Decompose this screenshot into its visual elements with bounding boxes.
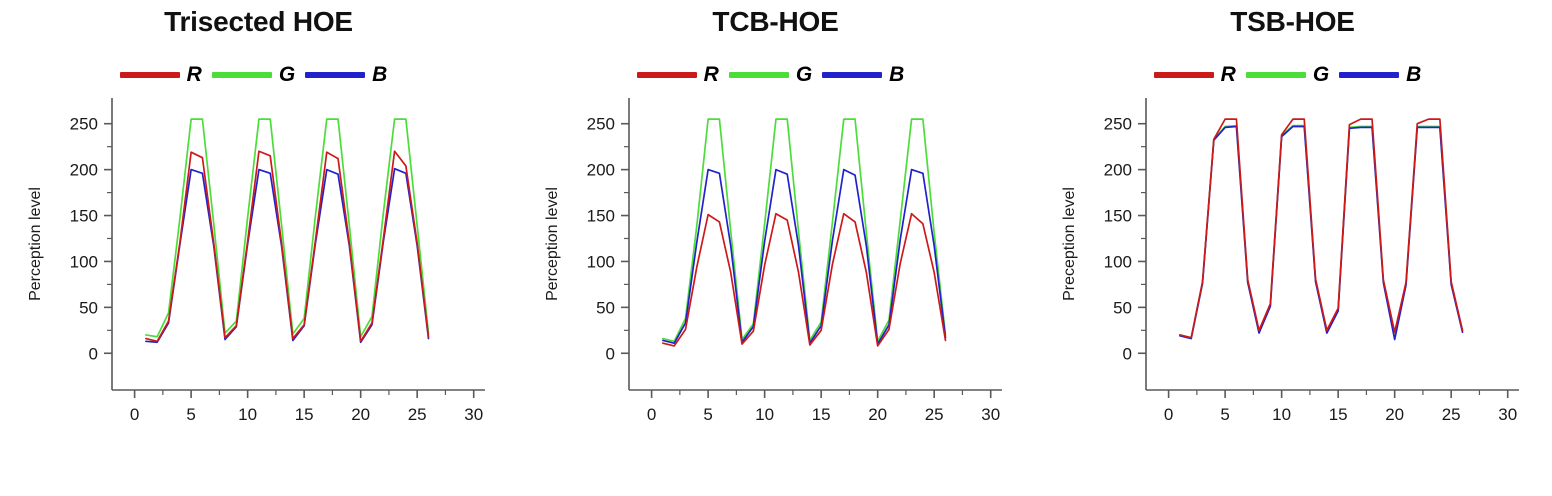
legend-swatch-r-icon (120, 72, 180, 78)
x-tick-label: 25 (1442, 405, 1461, 424)
legend-label-G: G (796, 64, 812, 85)
x-tick-label: 10 (238, 405, 257, 424)
figure-root: Trisected HOERGB050100150200250051015202… (0, 0, 1552, 496)
plot-area: 050100150200250051015202530pixel numberP… (1034, 90, 1551, 440)
panel-title: Trisected HOE (0, 6, 517, 38)
y-tick-label: 250 (587, 115, 615, 134)
chart-panel-1: Trisected HOERGB050100150200250051015202… (0, 0, 517, 496)
x-tick-label: 25 (925, 405, 944, 424)
legend-swatch-g-icon (729, 72, 789, 78)
y-tick-label: 200 (587, 161, 615, 180)
plot-area: 050100150200250051015202530pixel numberP… (517, 90, 1034, 440)
y-tick-label: 100 (1104, 252, 1132, 271)
x-tick-label: 15 (295, 405, 314, 424)
y-tick-label: 150 (70, 207, 98, 226)
legend-swatch-g-icon (1246, 72, 1306, 78)
chart-panel-3: TSB-HOERGB050100150200250051015202530pix… (1034, 0, 1551, 496)
x-tick-label: 25 (408, 405, 427, 424)
y-tick-label: 100 (70, 252, 98, 271)
y-axis-title: Perception level (27, 187, 44, 301)
x-tick-label: 5 (1220, 405, 1229, 424)
y-axis-title: Perception level (544, 187, 561, 301)
x-tick-label: 10 (1272, 405, 1291, 424)
legend-label-G: G (279, 64, 295, 85)
plot-area: 050100150200250051015202530pixel numberP… (0, 90, 517, 440)
legend-label-R: R (187, 64, 202, 85)
series-line-R (146, 151, 429, 341)
legend-label-G: G (1313, 64, 1329, 85)
chart-panel-2: TCB-HOERGB050100150200250051015202530pix… (517, 0, 1034, 496)
y-tick-label: 100 (587, 252, 615, 271)
legend-label-B: B (372, 64, 387, 85)
legend-label-B: B (1406, 64, 1421, 85)
x-tick-label: 10 (755, 405, 774, 424)
legend-swatch-b-icon (822, 72, 882, 78)
y-tick-label: 0 (1123, 344, 1132, 363)
x-tick-label: 30 (464, 405, 483, 424)
legend-entry-R[interactable]: R (637, 64, 719, 85)
x-tick-label: 0 (130, 405, 139, 424)
legend: RGB (517, 64, 1034, 85)
legend-entry-R[interactable]: R (120, 64, 202, 85)
panel-title: TCB-HOE (517, 6, 1034, 38)
x-axis-title: pixel number (770, 439, 862, 440)
y-tick-label: 50 (79, 298, 98, 317)
legend-entry-G[interactable]: G (1246, 64, 1329, 85)
legend-entry-G[interactable]: G (212, 64, 295, 85)
legend-swatch-r-icon (637, 72, 697, 78)
x-tick-label: 5 (186, 405, 195, 424)
legend-entry-G[interactable]: G (729, 64, 812, 85)
legend-swatch-g-icon (212, 72, 272, 78)
legend-entry-B[interactable]: B (1339, 64, 1421, 85)
legend-label-R: R (1221, 64, 1236, 85)
y-axis-title: Preception level (1061, 187, 1078, 301)
x-tick-label: 15 (1329, 405, 1348, 424)
x-tick-label: 30 (1498, 405, 1517, 424)
y-tick-label: 150 (587, 207, 615, 226)
legend: RGB (1034, 64, 1551, 85)
x-tick-label: 0 (647, 405, 656, 424)
legend-swatch-b-icon (1339, 72, 1399, 78)
x-tick-label: 20 (1385, 405, 1404, 424)
x-tick-label: 20 (868, 405, 887, 424)
y-tick-label: 50 (1113, 298, 1132, 317)
series-line-R (1180, 119, 1463, 338)
x-axis-title: pixel number (253, 439, 345, 440)
legend-swatch-b-icon (305, 72, 365, 78)
y-tick-label: 200 (70, 161, 98, 180)
panel-title: TSB-HOE (1034, 6, 1551, 38)
legend-label-R: R (704, 64, 719, 85)
x-axis-title: pixel number (1287, 439, 1379, 440)
legend-entry-R[interactable]: R (1154, 64, 1236, 85)
legend-entry-B[interactable]: B (822, 64, 904, 85)
y-tick-label: 250 (70, 115, 98, 134)
legend-label-B: B (889, 64, 904, 85)
x-tick-label: 15 (812, 405, 831, 424)
legend: RGB (0, 64, 517, 85)
x-tick-label: 0 (1164, 405, 1173, 424)
legend-swatch-r-icon (1154, 72, 1214, 78)
y-tick-label: 0 (89, 344, 98, 363)
y-tick-label: 200 (1104, 161, 1132, 180)
legend-entry-B[interactable]: B (305, 64, 387, 85)
y-tick-label: 0 (606, 344, 615, 363)
x-tick-label: 5 (703, 405, 712, 424)
y-tick-label: 250 (1104, 115, 1132, 134)
y-tick-label: 150 (1104, 207, 1132, 226)
x-tick-label: 20 (351, 405, 370, 424)
x-tick-label: 30 (981, 405, 1000, 424)
y-tick-label: 50 (596, 298, 615, 317)
